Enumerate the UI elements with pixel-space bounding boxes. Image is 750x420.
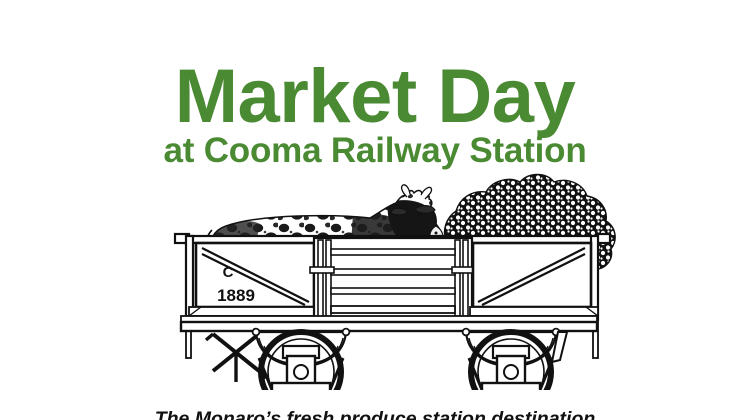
- wagon-panel-letter: C: [223, 264, 234, 281]
- wagon-wheel-assembly-right: [463, 329, 567, 390]
- wagon-illustration-svg: C 1889: [0, 150, 750, 390]
- wagon-door-latch-left: [310, 267, 334, 273]
- wagon-solebar: [181, 322, 597, 331]
- wagon-right-panel: [470, 243, 598, 316]
- poster-canvas: Market Day at Cooma Railway Station: [0, 0, 750, 420]
- wagon-panel-year: 1889: [217, 286, 255, 305]
- page-tagline: The Monaro’s fresh produce station desti…: [0, 410, 750, 420]
- wagon-illustration-body: [175, 234, 610, 390]
- wagon-centre-door: [310, 238, 476, 320]
- wagon-illustration: C 1889: [0, 150, 750, 390]
- wagon-left-panel: [189, 243, 317, 316]
- page-title: Market Day: [0, 59, 750, 135]
- wagon-wheel-assembly-left: [253, 329, 350, 390]
